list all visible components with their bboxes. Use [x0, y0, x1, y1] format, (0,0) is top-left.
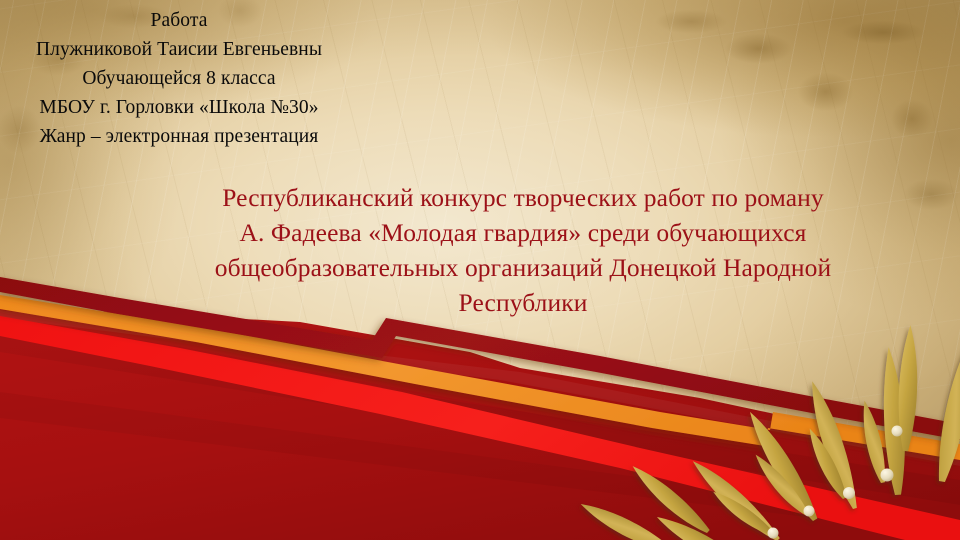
- author-line-5: Жанр – электронная презентация: [4, 122, 354, 151]
- title-line-4: Республики: [108, 285, 938, 320]
- title-line-2: А. Фадеева «Молодая гвардия» среди обуча…: [108, 215, 938, 250]
- author-attribution-block: Работа Плужниковой Таисии Евгеньевны Обу…: [4, 6, 354, 151]
- slide-title-block: Республиканский конкурс творческих работ…: [108, 180, 938, 320]
- author-line-3: Обучающейся 8 класса: [4, 64, 354, 93]
- title-line-1: Республиканский конкурс творческих работ…: [108, 180, 938, 215]
- author-line-4: МБОУ г. Горловки «Школа №30»: [4, 93, 354, 122]
- author-line-1: Работа: [4, 6, 354, 35]
- presentation-slide: Работа Плужниковой Таисии Евгеньевны Обу…: [0, 0, 960, 540]
- author-line-2: Плужниковой Таисии Евгеньевны: [4, 35, 354, 64]
- title-line-3: общеобразовательных организаций Донецкой…: [108, 250, 938, 285]
